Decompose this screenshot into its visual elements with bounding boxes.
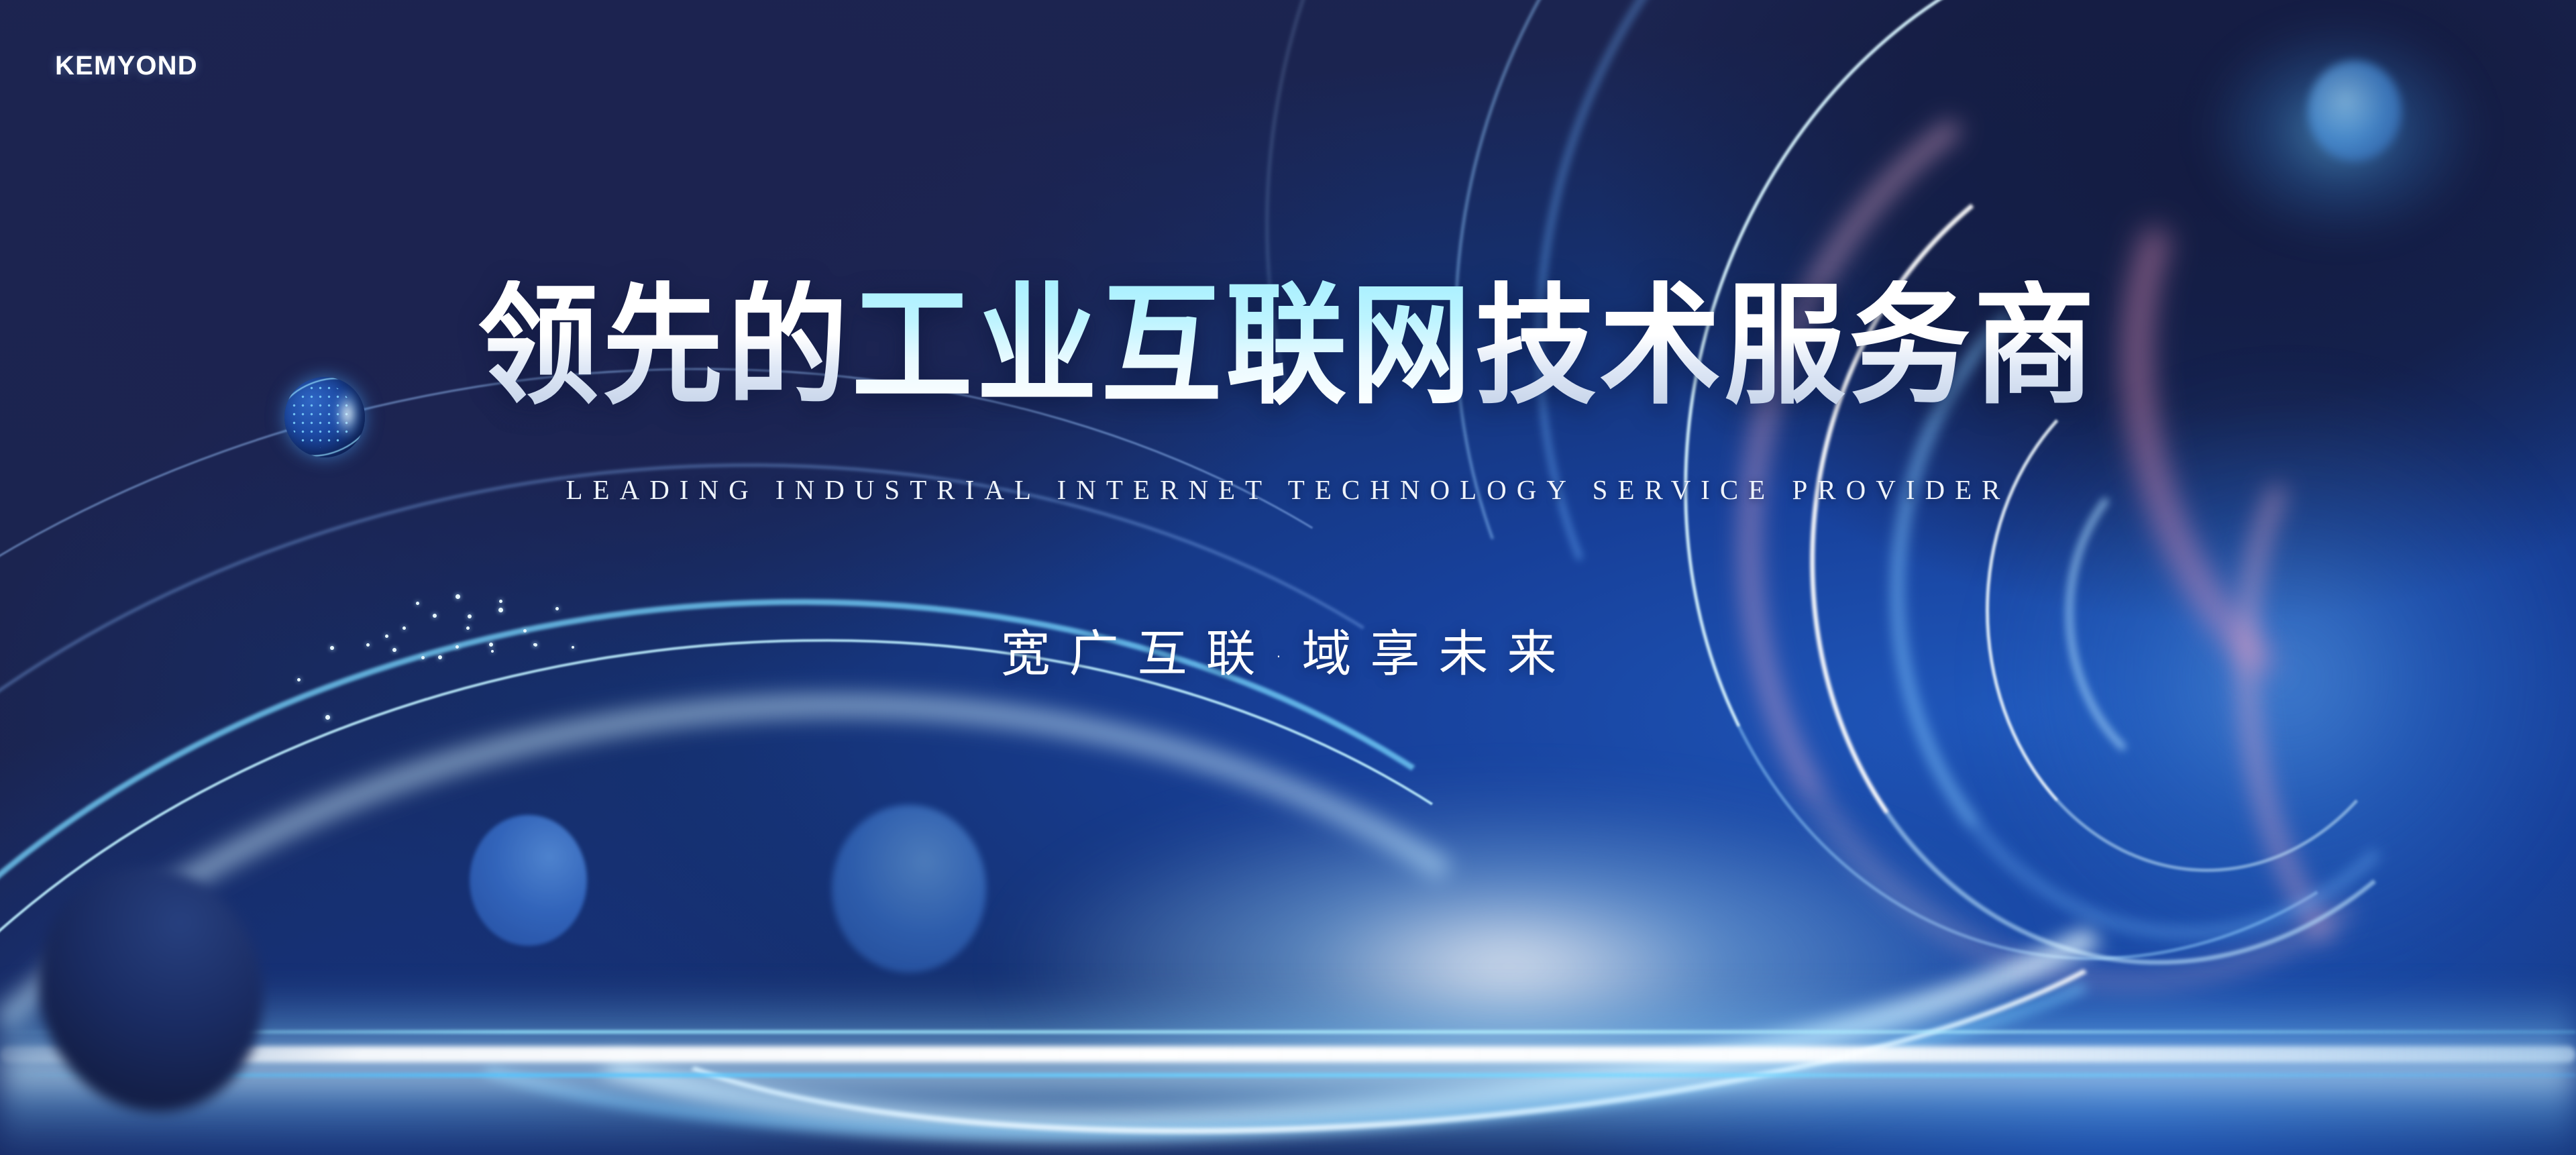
page-subtitle: LEADING INDUSTRIAL INTERNET TECHNOLOGY S… bbox=[0, 474, 2576, 506]
page-tagline: 宽广互联·域享未来 bbox=[0, 614, 2576, 685]
headline-segment-2: 工业互联网 bbox=[852, 280, 1475, 412]
headline-segment-3: 技术服务商 bbox=[1475, 280, 2098, 412]
headline-segment-1: 领先的 bbox=[478, 280, 852, 412]
banner-canvas: KEMYOND 领先的工业互联网技术服务商 LEADING INDUSTRIAL… bbox=[0, 0, 2576, 1155]
tagline-right: 域享未来 bbox=[1301, 625, 1575, 683]
tagline-left: 宽广互联 bbox=[1001, 625, 1275, 683]
tagline-separator-dot: · bbox=[1275, 642, 1302, 673]
page-title: 领先的工业互联网技术服务商 bbox=[103, 280, 2473, 412]
hero-text-block: 领先的工业互联网技术服务商 LEADING INDUSTRIAL INTERNE… bbox=[0, 0, 2576, 1155]
